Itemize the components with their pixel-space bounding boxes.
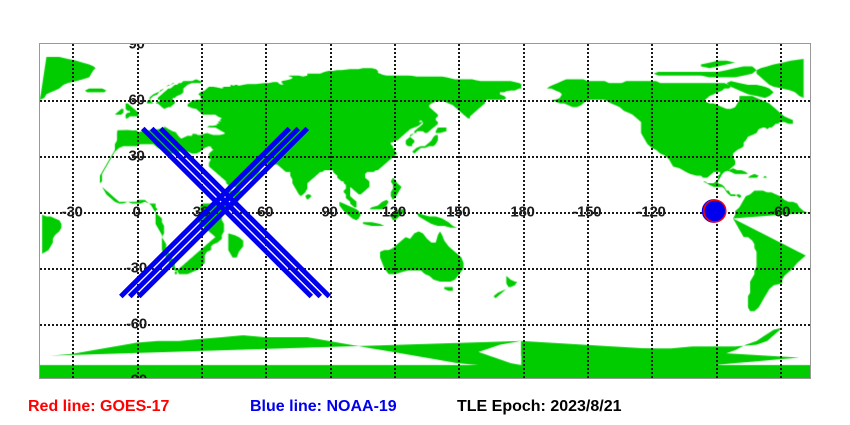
legend: Red line: GOES-17 Blue line: NOAA-19 TLE…: [0, 392, 850, 425]
lon-tick-150: 150: [446, 204, 470, 221]
legend-goes17: Red line: GOES-17: [28, 398, 169, 416]
lon-tick-0: 0: [132, 204, 140, 221]
lat-tick-90: 90: [128, 43, 144, 53]
lat-tick-30: 30: [128, 148, 144, 165]
lon-tick-30: 30: [193, 204, 209, 221]
lon-tick-120: 120: [382, 204, 406, 221]
lon-tick--150: -150: [572, 204, 601, 221]
lat-tick--60: -60: [126, 316, 147, 333]
lat-tick-60: 60: [128, 92, 144, 109]
lon-tick--120: -120: [637, 204, 666, 221]
map-frame: -300306090120150180-150-120-90-60906030-…: [39, 43, 811, 379]
lon-tick--60: -60: [769, 204, 790, 221]
lon-tick--30: -30: [62, 204, 83, 221]
lon-tick-60: 60: [257, 204, 273, 221]
lat-tick--30: -30: [126, 260, 147, 277]
lon-tick-180: 180: [510, 204, 534, 221]
legend-noaa19: Blue line: NOAA-19: [250, 398, 397, 416]
lon-tick--90: -90: [705, 204, 726, 221]
world-landmass: [40, 44, 810, 378]
lon-tick-90: 90: [321, 204, 337, 221]
lat-tick--90: -90: [126, 372, 147, 380]
satellite-ground-track-map: -300306090120150180-150-120-90-60906030-…: [0, 0, 850, 425]
legend-tle-epoch: TLE Epoch: 2023/8/21: [457, 398, 622, 416]
